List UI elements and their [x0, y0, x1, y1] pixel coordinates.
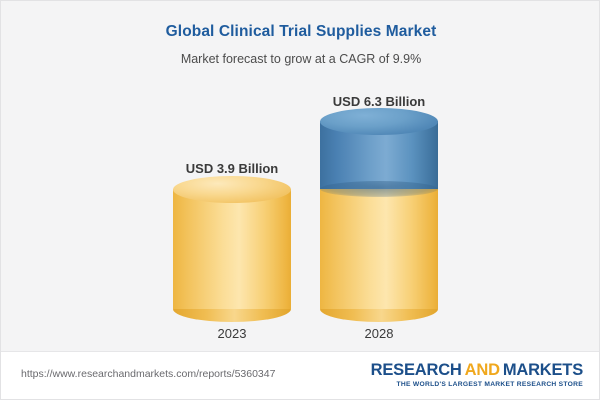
chart-plot-area: USD 3.9 Billion 2023 USD 6.3 Billion 202… — [1, 83, 600, 348]
logo-tagline: THE WORLD'S LARGEST MARKET RESEARCH STOR… — [371, 381, 583, 388]
category-label-2023: 2023 — [152, 326, 312, 342]
chart-header: Global Clinical Trial Supplies Market Ma… — [1, 1, 600, 67]
logo-wordmark: RESEARCHANDMARKETS — [371, 362, 583, 379]
bar-group-2023: USD 3.9 Billion 2023 — [152, 83, 312, 348]
logo-word-markets: MARKETS — [503, 361, 583, 379]
logo-word-and: AND — [465, 361, 500, 379]
bar-top-cap-2023 — [173, 176, 291, 203]
bar-group-2028: USD 6.3 Billion 2028 — [299, 83, 459, 348]
logo-word-research: RESEARCH — [371, 361, 462, 379]
bar-segment-divider-2028 — [320, 181, 438, 197]
report-url[interactable]: https://www.researchandmarkets.com/repor… — [21, 368, 275, 381]
bar-segment-base-2023 — [173, 189, 291, 309]
bar-cylinder-2023 — [173, 189, 291, 309]
bar-cylinder-2028 — [320, 121, 438, 309]
bar-top-cap-2028 — [320, 108, 438, 135]
bar-value-label-2023: USD 3.9 Billion — [152, 161, 312, 177]
footer: https://www.researchandmarkets.com/repor… — [1, 351, 600, 399]
chart-subtitle: Market forecast to grow at a CAGR of 9.9… — [1, 52, 600, 67]
research-and-markets-logo[interactable]: RESEARCHANDMARKETS THE WORLD'S LARGEST M… — [371, 362, 583, 388]
chart-title: Global Clinical Trial Supplies Market — [1, 23, 600, 42]
category-label-2028: 2028 — [299, 326, 459, 342]
market-forecast-infographic: Global Clinical Trial Supplies Market Ma… — [0, 0, 600, 400]
bar-segment-base-2028 — [320, 189, 438, 309]
